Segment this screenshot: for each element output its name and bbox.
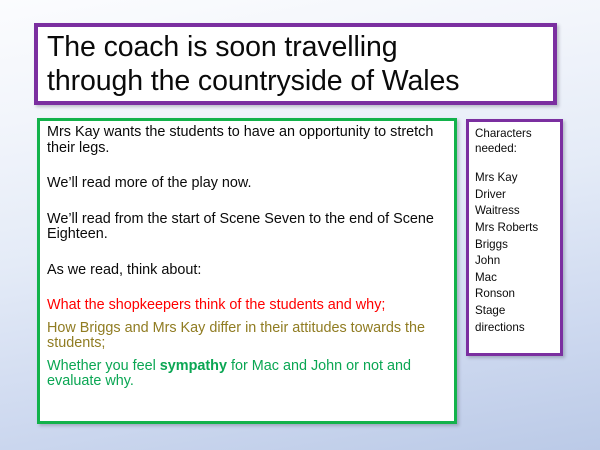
list-item: Driver <box>475 187 556 204</box>
focus-point-briggs-mrskay-text: How Briggs and Mrs Kay differ in their a… <box>47 320 425 352</box>
list-item: Mrs Kay <box>475 170 556 187</box>
characters-list: Mrs Kay Driver Waitress Mrs Roberts Brig… <box>475 170 556 336</box>
list-item: Mrs Roberts <box>475 220 556 237</box>
characters-needed-box: Characters needed: Mrs Kay Driver Waitre… <box>466 119 563 356</box>
title-box: The coach is soon travelling through the… <box>34 23 557 105</box>
list-item: Mac <box>475 270 556 287</box>
focus-point-briggs-mrskay: How Briggs and Mrs Kay differ in their a… <box>47 321 448 352</box>
slide-canvas: The coach is soon travelling through the… <box>0 0 600 450</box>
focus-point-sympathy-keyword: sympathy <box>160 358 227 374</box>
focus-point-sympathy: Whether you feel sympathy for Mac and Jo… <box>47 359 448 390</box>
body-content-box: Mrs Kay wants the students to have an op… <box>37 118 457 424</box>
focus-point-sympathy-text-before: Whether you feel <box>47 358 160 374</box>
list-item: Briggs <box>475 237 556 254</box>
body-paragraph-2: We’ll read more of the play now. <box>47 176 448 192</box>
body-paragraph-4: As we read, think about: <box>47 263 448 279</box>
list-item: Waitress <box>475 203 556 220</box>
body-paragraph-3: We’ll read from the start of Scene Seven… <box>47 212 448 243</box>
list-item: Ronson <box>475 286 556 303</box>
page-title: The coach is soon travelling through the… <box>47 30 459 98</box>
list-item: Stage directions <box>475 303 556 336</box>
focus-point-shopkeepers-text: What the shopkeepers think of the studen… <box>47 297 385 313</box>
list-item: John <box>475 253 556 270</box>
body-paragraph-1: Mrs Kay wants the students to have an op… <box>47 125 448 156</box>
focus-point-shopkeepers: What the shopkeepers think of the studen… <box>47 298 448 314</box>
characters-needed-heading: Characters needed: <box>475 127 556 156</box>
